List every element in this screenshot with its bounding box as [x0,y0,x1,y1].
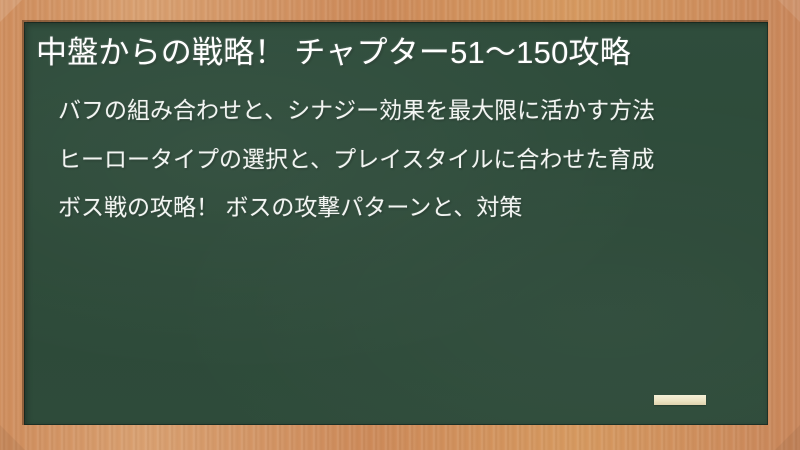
slide-content: 中盤からの戦略！ チャプター51〜150攻略 バフの組み合わせと、シナジー効果を… [24,22,768,224]
frame-corner-top-right [778,0,800,22]
bullet-item-3: ボス戦の攻略！ ボスの攻撃パターンと、対策 [58,191,746,224]
bullet-item-2: ヒーロータイプの選択と、プレイスタイルに合わせた育成 [58,143,746,176]
frame-corner-bottom-right [775,425,800,450]
chalk-stick-icon [654,395,706,405]
chalkboard-slide: 中盤からの戦略！ チャプター51〜150攻略 バフの組み合わせと、シナジー効果を… [0,0,800,450]
frame-corner-bottom-left [0,425,25,450]
bullet-list: バフの組み合わせと、シナジー効果を最大限に活かす方法 ヒーロータイプの選択と、プ… [36,94,746,224]
slide-title: 中盤からの戦略！ チャプター51〜150攻略 [36,32,746,74]
chalkboard-surface: 中盤からの戦略！ チャプター51〜150攻略 バフの組み合わせと、シナジー効果を… [24,22,768,425]
bullet-item-1: バフの組み合わせと、シナジー効果を最大限に活かす方法 [58,94,746,127]
frame-corner-top-left [0,0,22,22]
